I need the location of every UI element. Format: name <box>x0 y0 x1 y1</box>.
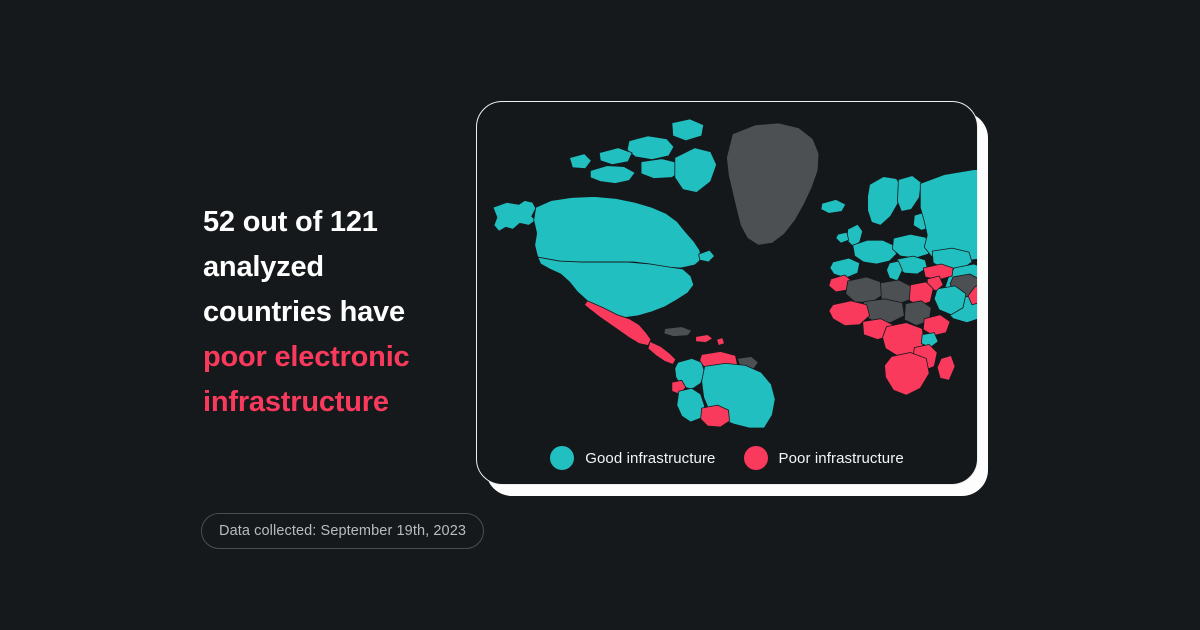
map-card: Good infrastructure Poor infrastructure <box>476 101 978 485</box>
region-southern-africa <box>885 352 930 395</box>
country-cuba <box>664 327 692 337</box>
region-banks-island <box>569 154 591 169</box>
headline-line-5: infrastructure <box>203 380 471 425</box>
country-russia <box>920 170 978 261</box>
country-alaska <box>493 200 536 231</box>
headline-line-3: countries have <box>203 290 471 335</box>
region-lesser-antilles <box>717 338 725 346</box>
data-collected-label: Data collected: September 19th, 2023 <box>219 523 466 539</box>
headline-line-1: 52 out of 121 <box>203 200 471 245</box>
country-ireland <box>836 232 849 243</box>
region-newfoundland <box>699 250 715 262</box>
country-canada <box>534 196 702 268</box>
country-madagascar <box>937 355 955 380</box>
country-iceland <box>821 199 846 213</box>
headline-line-2: analyzed <box>203 245 471 290</box>
world-map-svg <box>477 110 978 428</box>
country-finland <box>897 176 921 212</box>
region-horn-of-africa <box>923 315 950 336</box>
region-western-europe <box>853 240 897 264</box>
region-hispaniola <box>696 335 713 343</box>
legend-label-good: Good infrastructure <box>585 450 715 467</box>
infographic-root: 52 out of 121 analyzed countries have po… <box>0 0 1200 630</box>
region-ellesmere <box>672 119 704 141</box>
legend-swatch-poor <box>744 446 768 470</box>
legend-swatch-good <box>550 446 574 470</box>
world-choropleth-map <box>477 110 978 428</box>
country-algeria <box>846 277 882 303</box>
legend-label-poor: Poor infrastructure <box>779 450 904 467</box>
legend-item-poor: Poor infrastructure <box>744 446 904 470</box>
region-canadian-arctic-2 <box>627 136 674 160</box>
country-greenland <box>727 123 819 245</box>
page-title: 52 out of 121 analyzed countries have po… <box>203 200 471 425</box>
region-canadian-arctic-1 <box>590 166 635 184</box>
data-collected-badge: Data collected: September 19th, 2023 <box>201 513 484 549</box>
country-italy <box>887 261 903 281</box>
region-central-america <box>648 342 676 365</box>
region-baffin-island <box>675 148 717 193</box>
map-legend: Good infrastructure Poor infrastructure <box>477 446 977 470</box>
country-bolivia <box>701 405 730 427</box>
legend-item-good: Good infrastructure <box>550 446 715 470</box>
headline-line-4: poor electronic <box>203 335 471 380</box>
